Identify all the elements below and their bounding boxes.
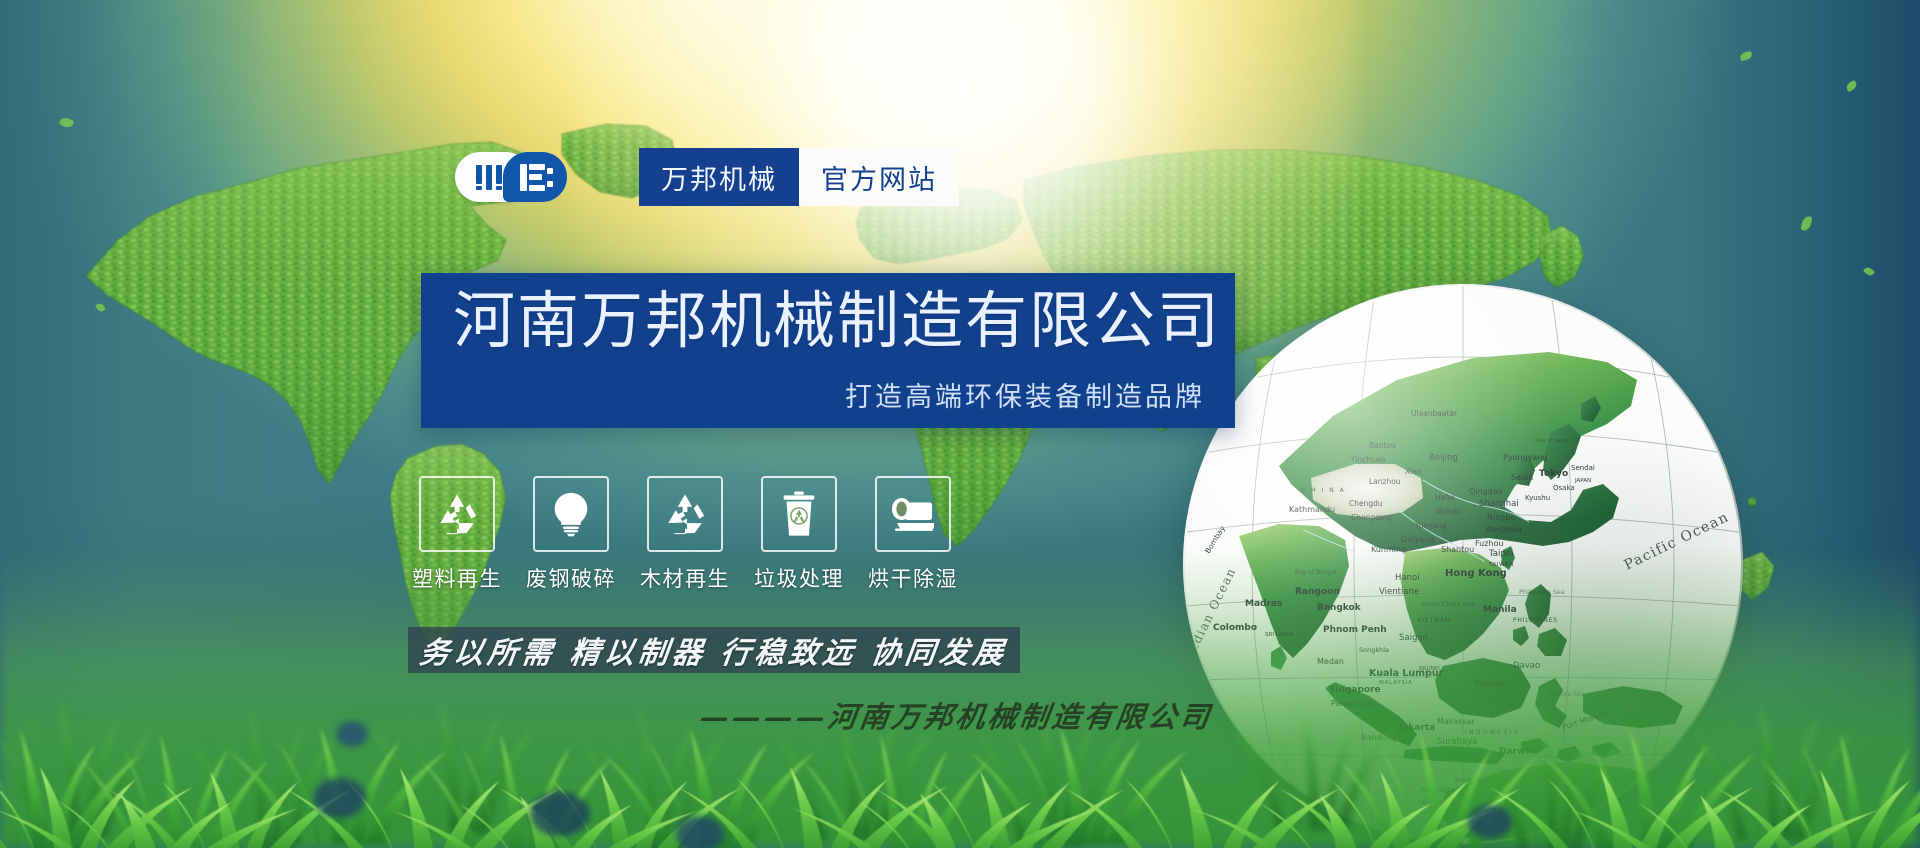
feature-label: 废钢破碎: [526, 563, 616, 593]
feature-wood-recycling[interactable]: 木材再生: [646, 476, 724, 593]
feature-icon-frame: [761, 476, 837, 552]
svg-text:Shanghai: Shanghai: [1479, 499, 1519, 509]
dryer-machine-icon: [889, 496, 937, 532]
hero-title-panel: 河南万邦机械制造有限公司 打造高端环保装备制造品牌: [421, 273, 1235, 428]
feature-drying-dehumidifying[interactable]: 烘干除湿: [874, 476, 952, 593]
svg-text:Sendai: Sendai: [1571, 464, 1595, 472]
hero-banner: Ulaanbaatar Beijing Pyongyang Seoul Toky…: [0, 0, 1920, 848]
svg-text:Seoul: Seoul: [1511, 473, 1533, 482]
svg-text:Xian: Xian: [1405, 467, 1422, 476]
logo-b-icon: [520, 164, 554, 191]
tab-official-site[interactable]: 官方网站: [799, 148, 959, 206]
svg-text:Baotou: Baotou: [1369, 441, 1396, 450]
svg-text:Wenzhou: Wenzhou: [1485, 525, 1522, 534]
svg-text:Ulaanbaatar: Ulaanbaatar: [1411, 409, 1458, 418]
svg-text:Sea of Japan: Sea of Japan: [1535, 438, 1570, 444]
feature-label: 塑料再生: [412, 563, 502, 593]
feature-label: 垃圾处理: [754, 563, 844, 593]
svg-text:Guiyang: Guiyang: [1401, 535, 1434, 544]
logo-w-icon: [474, 165, 512, 191]
slogan-banner: 务以所需 精以制器 行稳致远 协同发展: [408, 627, 1020, 673]
wb-logo[interactable]: [455, 148, 573, 206]
svg-text:Hefei: Hefei: [1435, 493, 1455, 502]
hero-tagline: 打造高端环保装备制造品牌: [845, 375, 1205, 414]
feature-label: 木材再生: [640, 563, 730, 593]
company-name: 河南万邦机械制造有限公司: [453, 287, 1221, 355]
svg-text:Qingdao: Qingdao: [1469, 487, 1503, 496]
feature-waste-treatment[interactable]: 垃圾处理: [760, 476, 838, 593]
slogan-credit: ————河南万邦机械制造有限公司: [697, 694, 1215, 736]
nav-tabs: 万邦机械 官方网站: [639, 148, 959, 206]
brand-bar: 万邦机械 官方网站: [455, 148, 959, 206]
feature-icon-frame: [533, 476, 609, 552]
feature-plastic-recycling[interactable]: 塑料再生: [418, 476, 496, 593]
recycle-icon: [662, 491, 708, 537]
svg-text:Kyushu: Kyushu: [1525, 494, 1550, 502]
svg-text:Fuzhou: Fuzhou: [1475, 539, 1503, 548]
svg-text:Pyongyang: Pyongyang: [1503, 453, 1547, 462]
recycle-icon: [434, 491, 480, 537]
svg-text:C H I N A: C H I N A: [1301, 487, 1346, 494]
feature-scrap-steel-shredding[interactable]: 废钢破碎: [532, 476, 610, 593]
svg-text:Yinchuan: Yinchuan: [1350, 455, 1385, 464]
svg-text:Chongqing: Chongqing: [1351, 513, 1392, 522]
slogan-text: 务以所需 精以制器 行稳致远 协同发展: [418, 628, 1011, 672]
svg-text:Kathmandu: Kathmandu: [1289, 505, 1335, 514]
feature-icon-frame: [875, 476, 951, 552]
svg-text:Beijing: Beijing: [1429, 453, 1458, 463]
feature-icon-frame: [647, 476, 723, 552]
trash-bin-icon: [781, 491, 817, 537]
svg-text:JAPAN: JAPAN: [1574, 478, 1591, 484]
tab-company[interactable]: 万邦机械: [639, 148, 799, 206]
svg-text:Ningbo: Ningbo: [1487, 513, 1515, 522]
feature-label: 烘干除湿: [868, 563, 958, 593]
feature-icon-row: 塑料再生 废钢破碎: [418, 476, 952, 593]
feature-icon-frame: [419, 476, 495, 552]
svg-text:Chengdu: Chengdu: [1349, 499, 1383, 508]
svg-text:Osaka: Osaka: [1553, 484, 1575, 492]
svg-text:Yueyang: Yueyang: [1414, 521, 1447, 530]
svg-text:Tokyo: Tokyo: [1539, 469, 1568, 479]
lightbulb-icon: [549, 491, 593, 537]
svg-text:Lanzhou: Lanzhou: [1369, 477, 1401, 486]
svg-text:Wuhan: Wuhan: [1435, 507, 1461, 516]
